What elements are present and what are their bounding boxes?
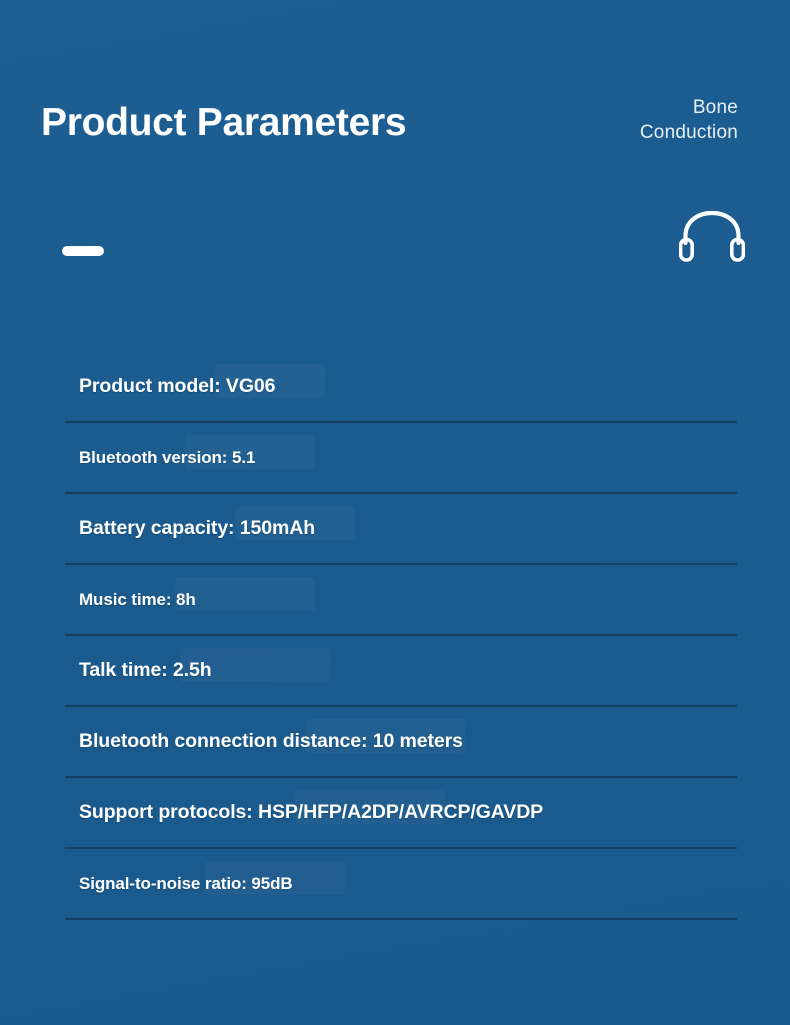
product-parameters-page: Product Parameters Bone Conduction Produ… — [0, 0, 790, 1025]
title-accent-dash — [62, 246, 104, 256]
brand-tagline-line1: Bone — [518, 95, 738, 120]
spec-list: Product model: VG06 Bluetooth version: 5… — [65, 352, 737, 920]
spec-label: Product model: VG06 — [65, 375, 275, 398]
page-header: Product Parameters Bone Conduction — [0, 0, 790, 290]
row-highlight-artifact — [175, 577, 315, 611]
spec-label: Support protocols: HSP/HFP/A2DP/AVRCP/GA… — [65, 801, 543, 824]
spec-row: Product model: VG06 — [65, 352, 737, 423]
spec-label: Signal-to-noise ratio: 95dB — [65, 874, 293, 894]
spec-label: Bluetooth connection distance: 10 meters — [65, 730, 463, 753]
brand-tagline-line2: Conduction — [518, 120, 738, 145]
headphones-icon — [679, 210, 745, 262]
spec-label: Battery capacity: 150mAh — [65, 517, 315, 540]
spec-row: Battery capacity: 150mAh — [65, 494, 737, 565]
spec-row: Bluetooth connection distance: 10 meters — [65, 707, 737, 778]
spec-label: Talk time: 2.5h — [65, 659, 212, 682]
spec-row: Signal-to-noise ratio: 95dB — [65, 849, 737, 920]
spec-row: Support protocols: HSP/HFP/A2DP/AVRCP/GA… — [65, 778, 737, 849]
spec-row: Bluetooth version: 5.1 — [65, 423, 737, 494]
spec-label: Music time: 8h — [65, 590, 196, 610]
brand-tagline: Bone Conduction — [518, 95, 738, 145]
spec-row: Talk time: 2.5h — [65, 636, 737, 707]
spec-label: Bluetooth version: 5.1 — [65, 448, 255, 468]
spec-row: Music time: 8h — [65, 565, 737, 636]
page-title: Product Parameters — [41, 101, 406, 145]
